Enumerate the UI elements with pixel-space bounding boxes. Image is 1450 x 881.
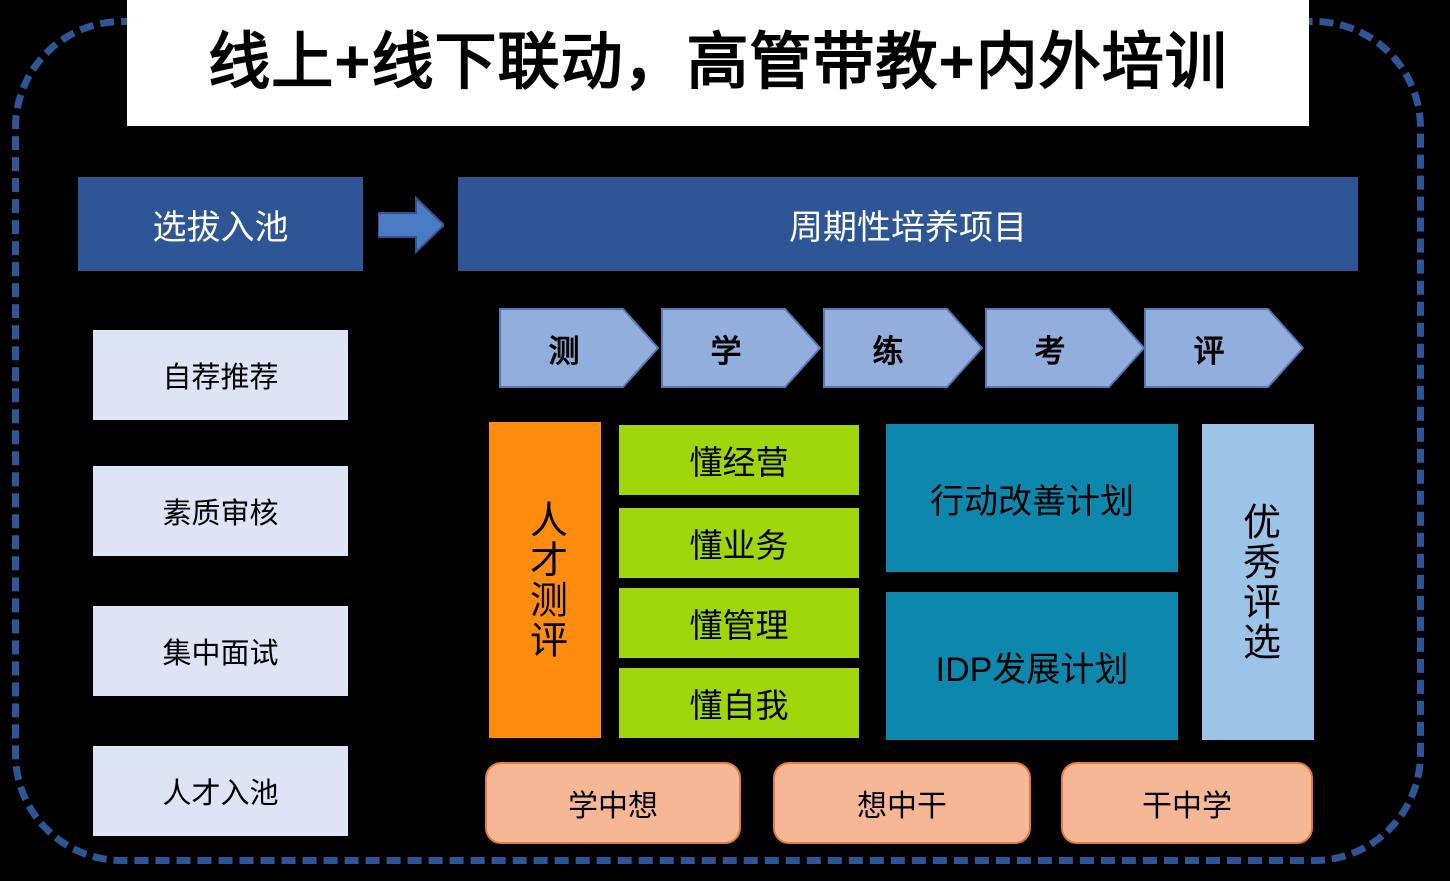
chevron-step-4: 评 xyxy=(1144,308,1304,388)
learning-cycle-0: 学中想 xyxy=(485,762,741,844)
selection-step-3-label: 人才入池 xyxy=(162,770,278,812)
competency-box-0: 懂经营 xyxy=(619,425,859,495)
chevron-step-3-label: 考 xyxy=(985,308,1115,388)
selection-step-2: 集中面试 xyxy=(93,606,348,696)
selection-step-0: 自荐推荐 xyxy=(93,330,348,420)
right-arrow-icon xyxy=(378,196,444,254)
chevron-step-1: 学 xyxy=(661,308,821,388)
competency-box-1-label: 懂业务 xyxy=(690,519,789,567)
excellence-selection-box: 优秀评选 xyxy=(1202,424,1314,740)
plan-box-1: IDP发展计划 xyxy=(886,592,1178,740)
header-program: 周期性培养项目 xyxy=(458,177,1358,271)
chevron-step-2: 练 xyxy=(823,308,983,388)
learning-cycle-1: 想中干 xyxy=(773,762,1031,844)
talent-assessment-box: 人才测评 xyxy=(489,422,601,738)
chevron-step-0: 测 xyxy=(499,308,659,388)
plan-box-0-label: 行动改善计划 xyxy=(930,474,1134,523)
title-banner: 线上+线下联动，高管带教+内外培训 xyxy=(127,0,1309,126)
learning-cycle-1-label: 想中干 xyxy=(857,781,947,825)
competency-box-1: 懂业务 xyxy=(619,508,859,578)
selection-step-1: 素质审核 xyxy=(93,466,348,556)
page-title: 线上+线下联动，高管带教+内外培训 xyxy=(208,32,1227,94)
competency-box-2: 懂管理 xyxy=(619,588,859,658)
process-chevron-row: 测 学 练 考 评 xyxy=(499,308,1304,388)
learning-cycle-2-label: 干中学 xyxy=(1142,781,1232,825)
plan-box-1-label: IDP发展计划 xyxy=(936,642,1129,691)
excellence-selection-label: 优秀评选 xyxy=(1231,502,1286,662)
selection-step-0-label: 自荐推荐 xyxy=(162,354,278,396)
learning-cycle-0-label: 学中想 xyxy=(568,781,658,825)
plan-box-0: 行动改善计划 xyxy=(886,424,1178,572)
header-program-label: 周期性培养项目 xyxy=(789,200,1027,249)
selection-step-3: 人才入池 xyxy=(93,746,348,836)
learning-cycle-2: 干中学 xyxy=(1061,762,1313,844)
header-selection-label: 选拔入池 xyxy=(153,200,289,249)
chevron-step-0-label: 测 xyxy=(499,308,629,388)
chevron-step-3: 考 xyxy=(985,308,1145,388)
selection-step-2-label: 集中面试 xyxy=(162,630,278,672)
competency-box-0-label: 懂经营 xyxy=(690,436,789,484)
competency-box-3: 懂自我 xyxy=(619,668,859,738)
chevron-step-4-label: 评 xyxy=(1144,308,1274,388)
diagram-canvas: 线上+线下联动，高管带教+内外培训 选拔入池 周期性培养项目 自荐推荐 素质审核… xyxy=(0,0,1450,881)
competency-box-3-label: 懂自我 xyxy=(690,679,789,727)
header-selection: 选拔入池 xyxy=(78,177,363,271)
chevron-step-2-label: 练 xyxy=(823,308,953,388)
selection-step-1-label: 素质审核 xyxy=(162,490,278,532)
talent-assessment-label: 人才测评 xyxy=(518,500,573,660)
chevron-step-1-label: 学 xyxy=(661,308,791,388)
competency-box-2-label: 懂管理 xyxy=(690,599,789,647)
